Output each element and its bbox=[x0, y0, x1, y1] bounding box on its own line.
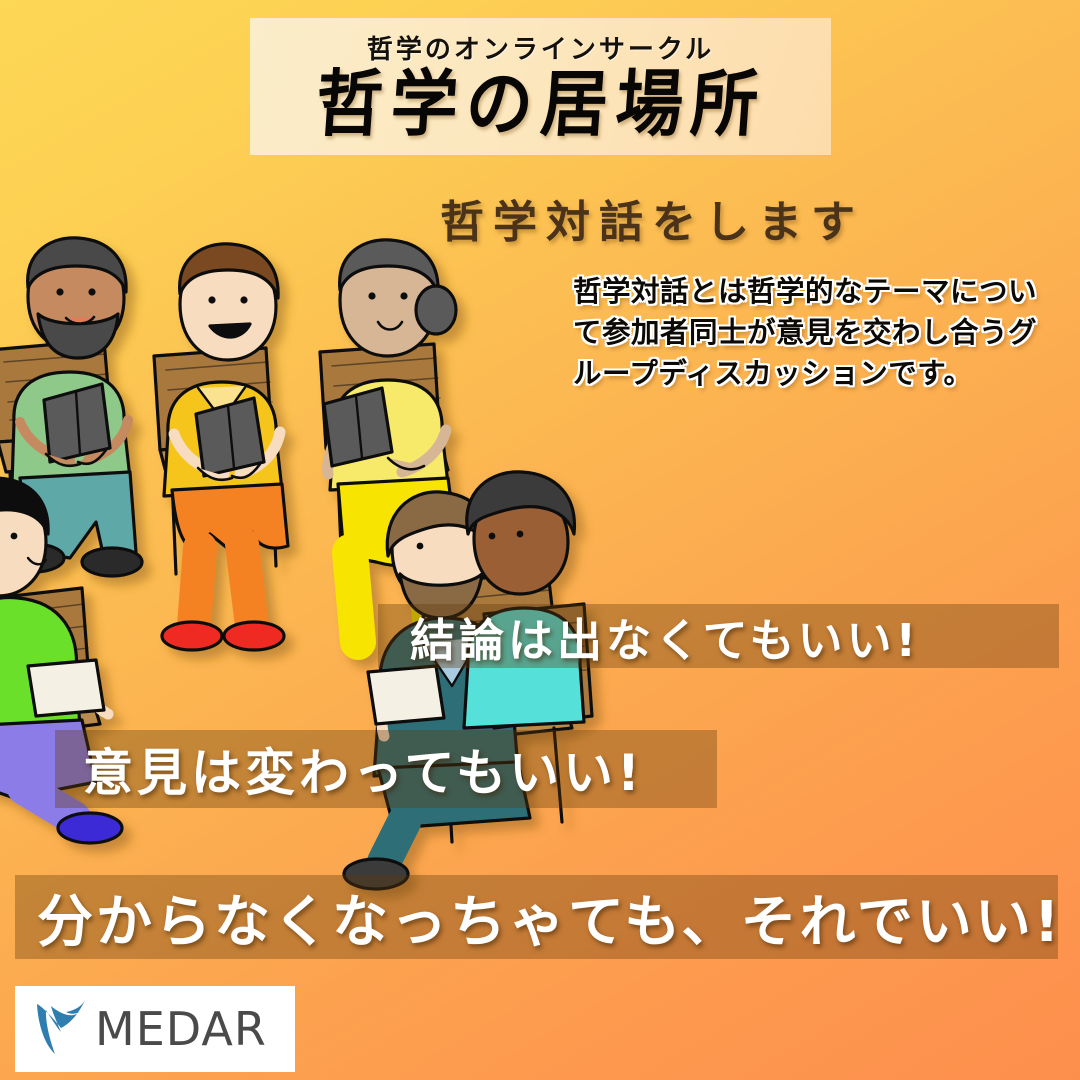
medar-wordmark: MEDAR bbox=[95, 1006, 267, 1052]
phrase-band-opinion-change: 意見は変わってもいい! bbox=[55, 730, 717, 808]
poster-canvas: 哲学のオンラインサークル 哲学の居場所 哲学対話をします 哲学対話とは哲学的なテ… bbox=[0, 0, 1080, 1080]
book-2 bbox=[196, 398, 264, 476]
medar-logo: MEDAR bbox=[15, 986, 295, 1072]
phrase-band-no-conclusion: 結論は出なくてもいい! bbox=[378, 604, 1059, 668]
medar-swoosh-icon bbox=[33, 998, 89, 1060]
banner-title: 哲学の居場所 bbox=[313, 67, 768, 143]
paper-2 bbox=[368, 666, 444, 724]
phrase-text: 意見は変わってもいい! bbox=[83, 733, 644, 805]
book-1 bbox=[44, 384, 110, 462]
lead-heading: 哲学対話をします bbox=[440, 198, 1040, 247]
phrase-band-confused-ok: 分からなくなっちゃても、それでいい! bbox=[15, 875, 1058, 959]
lead-body-text: 哲学対話とは哲学的なテーマについて参加者同士が意見を交わし合うグループディスカッ… bbox=[573, 272, 1043, 394]
header-banner: 哲学のオンラインサークル 哲学の居場所 bbox=[250, 18, 831, 155]
paper-1 bbox=[28, 660, 104, 716]
banner-subtitle: 哲学のオンラインサークル bbox=[367, 37, 714, 63]
phrase-text: 結論は出なくてもいい! bbox=[410, 604, 920, 669]
book-3 bbox=[324, 388, 392, 466]
phrase-text: 分からなくなっちゃても、それでいい! bbox=[37, 877, 1062, 958]
person-yellow-shirt bbox=[162, 244, 288, 650]
